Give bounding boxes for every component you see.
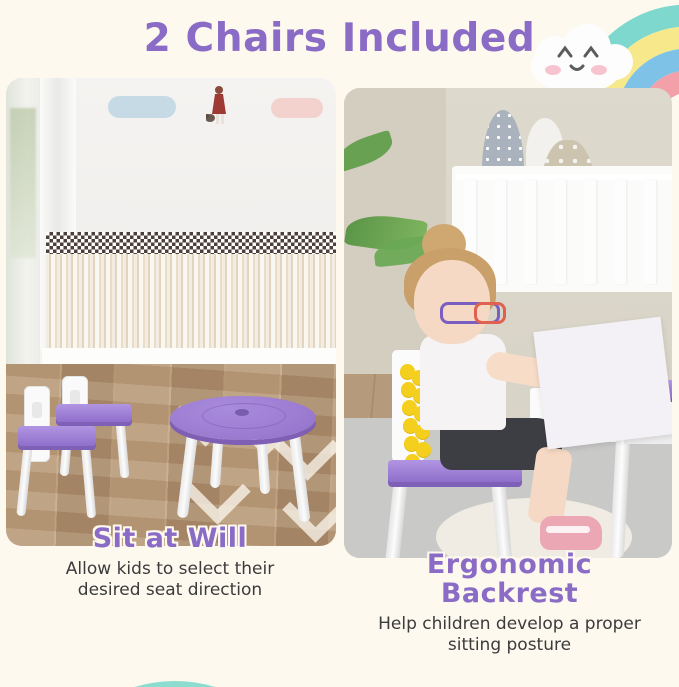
- product-photo-right: [344, 88, 672, 558]
- caption-left-line2: desired seat direction: [78, 580, 262, 600]
- caption-right-heading-line1: Ergonomic: [427, 549, 592, 580]
- open-book-page: [533, 317, 672, 450]
- child-torso: [420, 334, 506, 430]
- title-text: 2 Chairs Included: [144, 16, 536, 61]
- product-photo-left: [6, 78, 336, 546]
- caption-left-text: Allow kids to select their desired seat …: [0, 559, 340, 601]
- chair-seat: [56, 404, 132, 422]
- wall-decals: [56, 82, 336, 142]
- page-title: 2 Chairs Included: [0, 16, 679, 61]
- crib-slat: [644, 180, 656, 284]
- table-center-hole: [235, 409, 249, 416]
- child-with-dog-decal: [206, 84, 232, 128]
- caption-right-line1: Help children develop a proper: [378, 614, 641, 634]
- crib-slat: [494, 180, 506, 284]
- caption-left: Sit at Will Allow kids to select their d…: [0, 524, 340, 601]
- caption-right-heading-line2: Backrest: [441, 578, 578, 609]
- table-ring: [202, 403, 286, 429]
- checkered-border: [46, 232, 336, 254]
- child-sandal: [540, 516, 602, 550]
- crib-slat: [614, 180, 626, 284]
- crib-slat: [584, 180, 596, 284]
- cloud-decal-blue: [108, 96, 176, 118]
- caption-left-line1: Allow kids to select their: [66, 559, 274, 579]
- caption-left-heading: Sit at Will: [0, 524, 340, 553]
- crib-slat: [524, 180, 536, 284]
- cloud-decal-pink: [271, 98, 323, 118]
- caption-right-text: Help children develop a proper sitting p…: [340, 614, 679, 656]
- chair-seat: [18, 426, 96, 446]
- crib-slat: [554, 180, 566, 284]
- caption-right-line2: sitting posture: [448, 635, 571, 655]
- poster-canvas: 2 Chairs Included: [0, 0, 679, 687]
- caption-right-heading: Ergonomic Backrest: [340, 550, 679, 608]
- eyeglasses-icon: [474, 302, 506, 324]
- caption-right: Ergonomic Backrest Help children develop…: [340, 550, 679, 656]
